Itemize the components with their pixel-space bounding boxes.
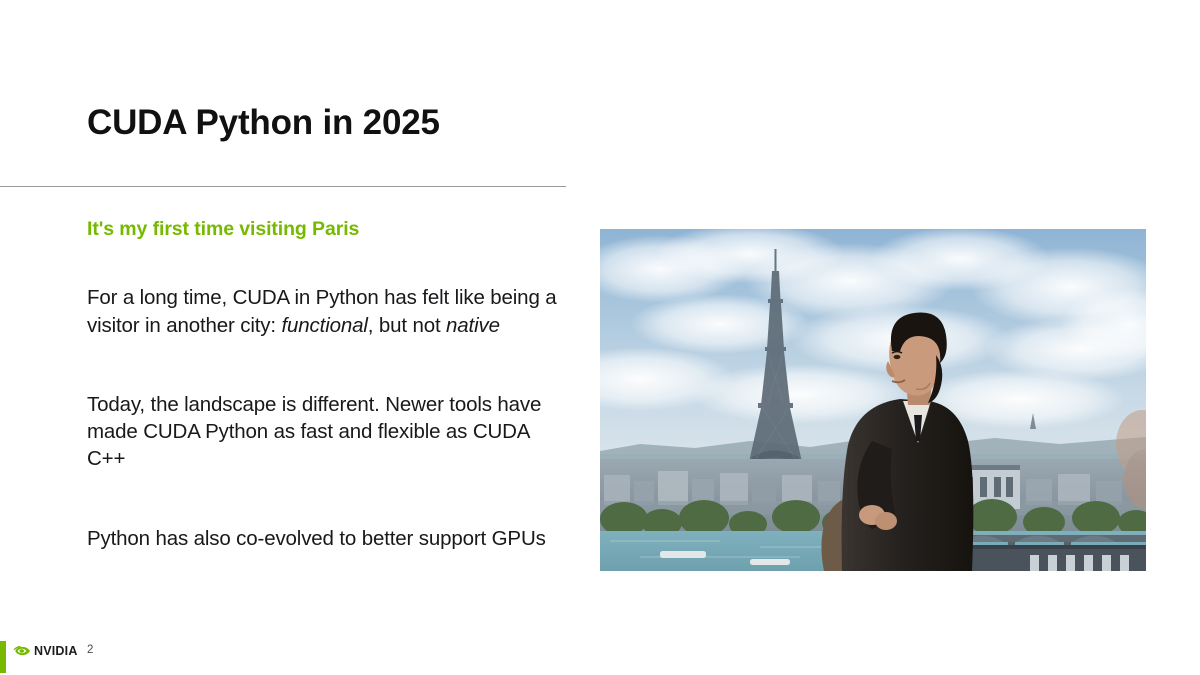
page-title: CUDA Python in 2025: [87, 103, 440, 143]
section-heading: It's my first time visiting Paris: [87, 218, 567, 241]
body-paragraph-1: For a long time, CUDA in Python has felt…: [87, 284, 567, 339]
nvidia-wordmark: NVIDIA: [34, 645, 78, 658]
title-divider: [0, 186, 566, 187]
page-number: 2: [87, 643, 93, 658]
paragraph-1-emphasis-native: native: [446, 314, 500, 337]
nvidia-logo: NVIDIA: [13, 643, 78, 659]
content-column: It's my first time visiting Paris For a …: [87, 218, 567, 552]
paragraph-3-text: Python has also co-evolved to better sup…: [87, 527, 546, 550]
paragraph-2-text: Today, the landscape is different. Newer…: [87, 393, 541, 471]
eye: [894, 355, 901, 359]
footer-accent-bar: [0, 641, 6, 673]
paris-photo: [600, 229, 1146, 571]
paragraph-1-text-b: , but not: [368, 314, 446, 337]
paris-photo-illustration: [600, 229, 1146, 571]
body-paragraph-3: Python has also co-evolved to better sup…: [87, 525, 567, 552]
clouds: [600, 229, 1146, 429]
nvidia-eye-icon: [13, 645, 31, 658]
body-paragraph-2: Today, the landscape is different. Newer…: [87, 391, 567, 473]
slide-canvas: CUDA Python in 2025 It's my first time v…: [0, 0, 1200, 675]
paragraph-1-emphasis-functional: functional: [282, 314, 368, 337]
